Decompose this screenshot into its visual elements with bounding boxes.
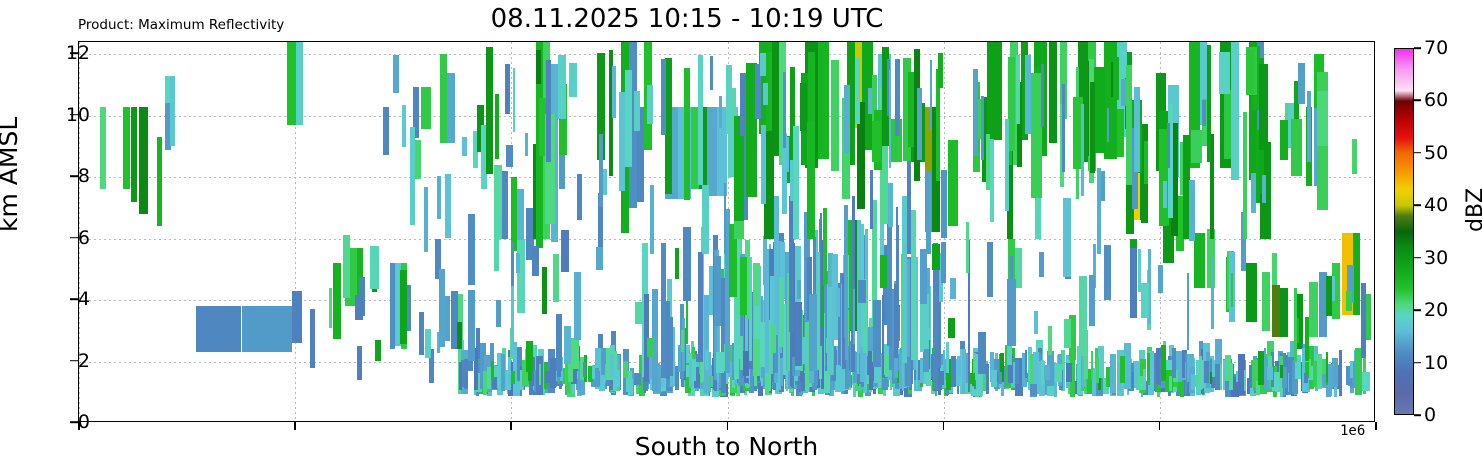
reflectivity-cell [1224,90,1231,158]
reflectivity-cell [761,125,766,204]
reflectivity-cell [1187,273,1190,350]
reflectivity-cell [1191,130,1202,163]
reflectivity-cell [1294,288,1297,363]
reflectivity-cell [1249,365,1251,387]
reflectivity-cell [1194,233,1204,288]
reflectivity-cell [946,342,950,372]
reflectivity-cell [1066,363,1072,382]
reflectivity-cell [526,341,533,372]
reflectivity-cell [1182,360,1184,378]
reflectivity-cell [329,288,332,328]
reflectivity-cell [613,370,619,387]
reflectivity-cell [647,85,653,124]
reflectivity-cell [710,56,713,90]
reflectivity-cell [1189,180,1196,241]
colorbar-tick-mark [1414,362,1421,364]
reflectivity-cell [845,254,848,360]
reflectivity-cell [1144,141,1148,183]
reflectivity-cell [844,85,850,153]
reflectivity-cell [800,83,807,131]
reflectivity-cell [895,59,900,135]
reflectivity-cell [1307,91,1310,162]
reflectivity-cell [987,242,993,297]
reflectivity-cell [505,64,511,114]
reflectivity-cell [920,299,923,352]
reflectivity-cell [445,174,451,238]
reflectivity-cell [797,280,801,299]
reflectivity-cell [421,87,431,130]
reflectivity-cell [635,302,643,324]
reflectivity-cell [564,326,571,364]
reflectivity-cell [1280,288,1288,337]
reflectivity-cell [1034,311,1039,334]
reflectivity-cell [689,360,693,388]
reflectivity-cell [425,329,431,357]
reflectivity-cell [571,338,579,369]
colorbar-tick-mark [1414,100,1421,102]
y-tick-mark [70,421,78,423]
reflectivity-cell [410,127,415,225]
reflectivity-cell [1063,362,1066,390]
reflectivity-cell [1317,378,1322,390]
reflectivity-cell [1243,112,1247,239]
reflectivity-cell [343,235,350,298]
reflectivity-cell [1251,173,1257,212]
reflectivity-cell [100,107,106,190]
reflectivity-cell [486,47,493,174]
x-tick-mark [1159,422,1161,430]
reflectivity-cell [907,161,910,254]
x-axis-label: South to North [78,432,1375,461]
reflectivity-cell [170,76,175,147]
y-tick-label-4: 4 [78,288,90,310]
reflectivity-cell [647,338,653,357]
reflectivity-cell [882,379,888,390]
colorbar-gradient [1394,48,1414,415]
reflectivity-cell [948,140,958,226]
y-tick-mark [70,237,78,239]
reflectivity-cell [990,139,994,222]
reflectivity-cell [1346,291,1353,311]
reflectivity-cell [1048,326,1052,355]
reflectivity-cell [574,272,581,340]
reflectivity-cell [437,176,440,219]
reflectivity-cell [790,160,794,201]
reflectivity-cell [1244,370,1247,391]
reflectivity-cell [795,302,802,365]
reflectivity-cell [1039,252,1044,277]
reflectivity-cell [333,263,341,339]
reflectivity-cell [242,306,291,352]
reflectivity-cell [1231,273,1234,307]
reflectivity-cell [157,137,162,226]
reflectivity-cell [932,244,940,270]
reflectivity-cell [831,60,839,171]
reflectivity-cell [370,246,378,289]
reflectivity-cell [786,370,788,390]
reflectivity-cell [457,322,462,348]
reflectivity-cell [1326,276,1332,317]
reflectivity-cell [683,227,691,301]
reflectivity-cell [462,137,467,155]
reflectivity-cell [532,246,540,276]
reflectivity-cell [511,281,514,356]
reflectivity-cell [1291,119,1302,175]
reflectivity-cell [292,291,302,343]
reflectivity-cell [1280,365,1283,377]
reflectivity-cell [539,364,541,385]
reflectivity-cell [855,58,860,125]
reflectivity-cell [868,88,872,114]
reflectivity-cell [1317,91,1328,146]
reflectivity-cell [491,361,494,380]
reflectivity-cell [545,371,551,383]
reflectivity-cell [911,210,916,360]
reflectivity-cell [760,322,765,366]
y-tick-mark [70,298,78,300]
reflectivity-cell [1313,361,1317,386]
reflectivity-cell [1211,257,1214,329]
reflectivity-cell [920,249,926,304]
reflectivity-cell [1350,361,1353,378]
reflectivity-cell [533,144,537,239]
reflectivity-cell [1204,361,1209,383]
reflectivity-cell [1147,353,1150,385]
reflectivity-cell [619,92,625,191]
reflectivity-cell [1304,373,1308,383]
reflectivity-cell [661,243,666,378]
reflectivity-cell [986,364,989,395]
reflectivity-cell [599,134,603,207]
reflectivity-cell [1219,52,1229,94]
reflectivity-cell [402,105,406,147]
reflectivity-cell [131,107,137,202]
reflectivity-cell [1130,248,1138,317]
reflectivity-cell [698,55,703,185]
reflectivity-cell [1121,79,1126,107]
reflectivity-cell [511,241,514,286]
reflectivity-cell [355,295,363,321]
reflectivity-cell [1272,253,1277,285]
reflectivity-cell [1008,57,1015,151]
reflectivity-cell [556,314,562,371]
reflectivity-cell [870,170,873,229]
reflectivity-cell [400,270,407,344]
reflectivity-cell [821,284,824,328]
reflectivity-cell [1015,360,1019,384]
reflectivity-cell [903,244,907,360]
reflectivity-cell [415,140,420,179]
reflectivity-cell [1332,358,1337,387]
reflectivity-cell [772,325,776,354]
reflectivity-cell [495,94,499,159]
x-tick-mark [294,422,296,430]
reflectivity-cell [536,50,541,84]
reflectivity-cell [873,300,880,367]
reflectivity-cell [558,55,566,119]
reflectivity-cell [424,187,428,253]
reflectivity-cell [714,256,721,325]
reflectivity-cell [1126,65,1132,185]
reflectivity-cell [511,371,515,384]
x-axis-offset-label: 1e6 [1340,423,1365,439]
y-tick-label-6: 6 [78,227,90,249]
reflectivity-cell [440,54,448,143]
reflectivity-cell [483,371,487,395]
reflectivity-cell [684,68,690,200]
reflectivity-cell [419,312,424,355]
y-tick-label-12: 12 [66,42,90,64]
colorbar-tick-mark [1414,47,1421,49]
reflectivity-cell [1141,283,1149,319]
colorbar-tick-mark [1414,309,1421,311]
reflectivity-cell [981,96,984,160]
reflectivity-cell [951,356,956,387]
reflectivity-cell [583,362,585,378]
y-tick-label-8: 8 [78,165,90,187]
reflectivity-cell [760,53,767,76]
reflectivity-cell [650,185,654,254]
reflectivity-cell [880,255,887,288]
reflectivity-cell [603,169,607,195]
reflectivity-cell [1246,263,1256,321]
reflectivity-cell [502,171,508,239]
reflectivity-cell [978,332,986,373]
reflectivity-cell [1361,283,1366,357]
reflectivity-cell [1272,285,1280,337]
reflectivity-cell [1202,100,1206,126]
reflectivity-cell [1117,109,1124,157]
colorbar-label: dBZ [1463,188,1482,232]
reflectivity-cell [577,174,582,220]
reflectivity-cell [1362,372,1370,391]
reflectivity-cell [610,354,614,377]
reflectivity-cell [858,280,865,303]
reflectivity-cell [894,284,898,358]
reflectivity-cell [592,365,595,379]
reflectivity-cell [938,53,943,89]
reflectivity-cell [287,42,296,125]
reflectivity-cell [823,208,828,285]
colorbar-tick-label-10: 10 [1424,352,1448,374]
reflectivity-cell [950,278,956,299]
reflectivity-cell [1158,265,1164,293]
reflectivity-cell [1207,45,1212,162]
reflectivity-cell [1161,345,1166,381]
y-axis-label: km AMSL [0,117,23,232]
reflectivity-cell [357,346,362,380]
plot-area [78,41,1375,422]
reflectivity-cell [625,70,632,168]
colorbar [1394,48,1414,415]
reflectivity-cell [917,88,922,160]
x-tick-mark [943,422,945,430]
reflectivity-cell [853,289,856,344]
reflectivity-cell [634,91,640,131]
reflectivity-cell [930,60,933,130]
reflectivity-cell [1231,42,1239,180]
reflectivity-cell [1044,365,1051,380]
reflectivity-cell [439,269,445,347]
reflectivity-cell [1163,181,1168,208]
colorbar-tick-label-60: 60 [1424,89,1448,111]
reflectivity-cell [1246,50,1254,94]
reflectivity-cell [1258,351,1264,386]
reflectivity-cell [296,42,304,125]
reflectivity-cell [1352,139,1357,174]
x-tick-mark [510,422,512,430]
reflectivity-cell [1110,354,1116,393]
reflectivity-cell [1079,276,1087,356]
reflectivity-cell [724,183,726,254]
reflectivity-cell [740,257,747,316]
reflectivity-cell [1005,119,1009,211]
reflectivity-cell [926,172,930,254]
reflectivity-cell [1094,67,1105,154]
reflectivity-cell [1120,356,1125,383]
reflectivity-cell [991,370,997,387]
reflectivity-cell [1091,351,1093,379]
reflectivity-cell [1215,361,1221,390]
reflectivity-cell [1016,55,1020,125]
reflectivity-cell [623,361,628,378]
reflectivity-cell [1007,279,1015,346]
reflectivity-cell [661,59,665,135]
reflectivity-cell [888,183,894,227]
reflectivity-cell [726,65,732,134]
reflectivity-cell [941,170,947,238]
reflectivity-cell [546,60,551,161]
y-tick-label-0: 0 [78,411,90,433]
reflectivity-cell [1041,64,1043,127]
reflectivity-cell [1104,245,1112,300]
reflectivity-cell [1264,348,1266,378]
reflectivity-cell [1089,275,1095,326]
reflectivity-cell [941,242,947,283]
reflectivity-cell [966,222,969,274]
reflectivity-cell [1107,108,1110,142]
reflectivity-cell [1298,63,1305,104]
x-tick-mark [78,422,80,430]
colorbar-tick-mark [1414,257,1421,259]
y-tick-label-2: 2 [78,350,90,372]
reflectivity-cell [561,230,569,273]
reflectivity-cell [1124,343,1131,389]
reflectivity-cell [1025,350,1027,378]
colorbar-tick-label-30: 30 [1424,247,1448,269]
reflectivity-cell [1097,168,1102,254]
y-tick-mark [70,360,78,362]
reflectivity-cell [1134,87,1140,173]
reflectivity-cell [1049,42,1057,143]
reflectivity-cell [1096,357,1099,383]
reflectivity-cell [1172,348,1176,378]
reflectivity-cell [1236,371,1238,383]
reflectivity-cell [743,351,749,375]
reflectivity-cell [779,277,784,347]
reflectivity-cell [705,350,709,370]
reflectivity-cell [1113,57,1118,100]
colorbar-tick-label-40: 40 [1424,194,1448,216]
reflectivity-cell [569,63,577,97]
reflectivity-cell [702,185,708,254]
chart-title: 08.11.2025 10:15 - 10:19 UTC [0,4,1374,34]
reflectivity-cell [809,294,817,370]
colorbar-tick-mark [1414,204,1421,206]
reflectivity-cell [889,70,892,167]
reflectivity-cell [1030,384,1037,396]
reflectivity-cell [836,288,840,318]
reflectivity-cell [508,357,511,386]
reflectivity-cell [973,69,978,156]
reflectivity-cell [310,309,315,367]
reflectivity-cell [716,352,724,373]
reflectivity-cell [681,330,684,352]
reflectivity-cell [939,371,944,384]
y-tick-mark [70,175,78,177]
reflectivity-cell [827,287,832,375]
x-tick-mark [1375,422,1377,430]
reflectivity-cell [1143,369,1146,390]
reflectivity-cell [707,107,717,196]
reflectivity-cell [1215,339,1222,364]
reflectivity-cell [998,372,1002,384]
reflectivity-cell [1225,355,1231,381]
reflectivity-cell [1090,82,1095,173]
reflectivity-cell [957,356,961,377]
reflectivity-cell [1025,55,1031,134]
reflectivity-cell [459,362,462,390]
reflectivity-cell [818,42,828,159]
reflectivity-cell [665,58,672,193]
reflectivity-cell [987,42,1003,140]
reflectivity-cell [1199,356,1203,390]
y-tick-label-10: 10 [66,104,90,126]
reflectivity-cell [553,254,560,302]
reflectivity-cell [139,107,148,215]
reflectivity-cell [783,72,787,148]
reflectivity-cell [542,267,547,314]
reflectivity-cell [407,285,411,331]
reflectivity-cell [1167,123,1170,169]
reflectivity-cell [516,253,520,273]
reflectivity-cell [1280,120,1287,160]
reflectivity-cell [1131,372,1133,388]
reflectivity-cell [1305,317,1309,361]
reflectivity-cell [494,214,499,271]
reflectivity-cell [383,107,389,155]
reflectivity-cell [1015,248,1021,288]
reflectivity-cell [1267,367,1273,380]
reflectivity-cell [1062,84,1066,172]
reflectivity-cell [612,66,616,118]
reflectivity-cell [444,296,450,341]
colorbar-tick-label-50: 50 [1424,142,1448,164]
reflectivity-cell [1081,104,1085,196]
colorbar-tick-mark [1414,152,1421,154]
reflectivity-cell [1262,175,1266,203]
x-tick-mark [727,422,729,430]
reflectivity-cell [447,73,455,144]
reflectivity-data-layer [79,42,1374,421]
reflectivity-cell [1031,73,1042,198]
reflectivity-cell [468,214,475,285]
reflectivity-cell [501,354,506,391]
reflectivity-cell [807,122,815,238]
reflectivity-cell [780,358,783,386]
reflectivity-cell [1259,64,1268,150]
reflectivity-cell [763,83,768,105]
